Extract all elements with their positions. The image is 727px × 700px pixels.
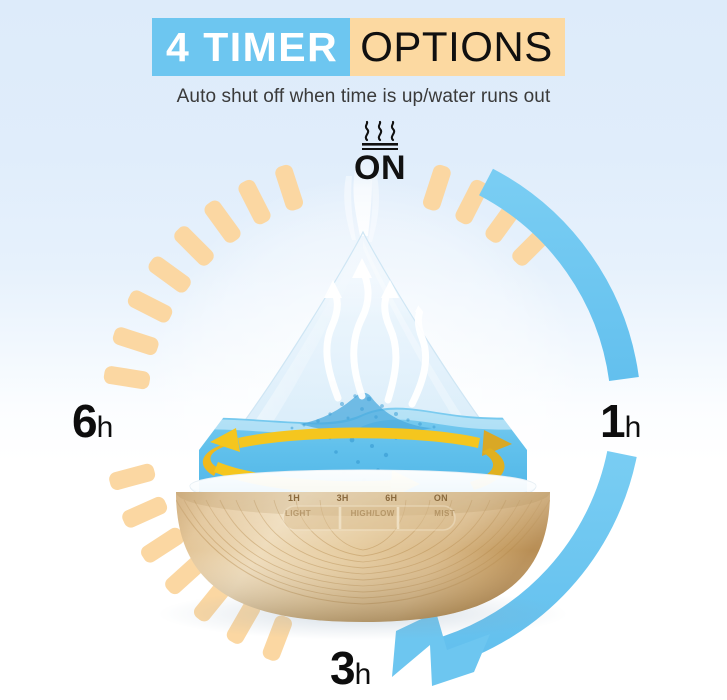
timer-tick-labels: 1H 3H 6H ON: [288, 493, 448, 503]
on-label: ON: [330, 151, 430, 185]
tick-1h: 1H: [288, 493, 300, 503]
light-button[interactable]: LIGHT: [285, 509, 311, 518]
title-highlight-block: 4 TIMER: [152, 18, 350, 76]
timer-1h-unit: h: [625, 411, 642, 444]
title-banner: 4 TIMER OPTIONS: [152, 18, 565, 76]
tick-3h: 3H: [337, 493, 349, 503]
timer-3h-unit: h: [355, 658, 372, 691]
infographic-page: 1H 3H 6H ON LIGHT HIGH/LOW MIST 4 TIMER …: [0, 0, 727, 700]
timer-6h-unit: h: [97, 411, 114, 444]
timer-option-3h[interactable]: 3h: [330, 645, 371, 691]
timer-6h-number: 6: [72, 395, 97, 447]
tick-6h: 6H: [385, 493, 397, 503]
control-button-labels: LIGHT HIGH/LOW MIST: [285, 509, 455, 518]
timer-1h-number: 1: [600, 395, 625, 447]
title-rest-block: OPTIONS: [350, 18, 565, 76]
timer-3h-number: 3: [330, 642, 355, 694]
on-marker: ON: [330, 120, 430, 185]
timer-option-6h[interactable]: 6h: [72, 398, 113, 444]
tick-on: ON: [434, 493, 448, 503]
subtitle: Auto shut off when time is up/water runs…: [0, 86, 727, 108]
title-highlight-text: 4 TIMER: [166, 27, 338, 68]
mist-button[interactable]: MIST: [434, 509, 455, 518]
steam-icon: [352, 120, 408, 150]
high-low-button[interactable]: HIGH/LOW: [351, 509, 395, 518]
title-rest-text: OPTIONS: [360, 26, 553, 68]
timer-option-1h[interactable]: 1h: [600, 398, 641, 444]
